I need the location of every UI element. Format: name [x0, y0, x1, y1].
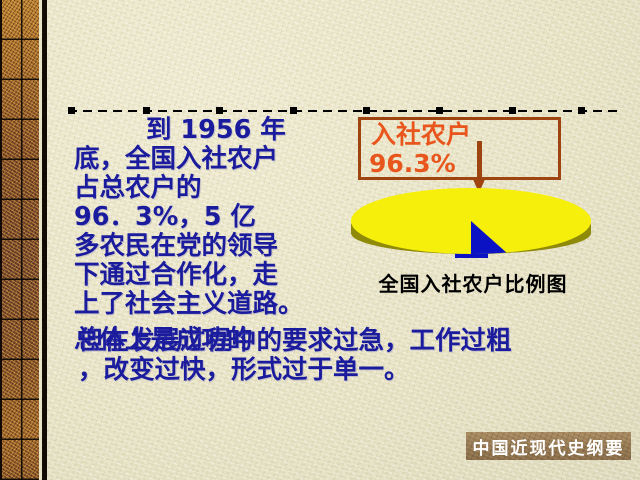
pie-chart[interactable]: [351, 188, 591, 270]
body-text-line-5: 多农民在党的领导: [74, 232, 336, 261]
selection-handle[interactable]: [290, 107, 297, 114]
slide-canvas: 到 1956 年 底，全国入社农户 占总农户的 96．3%，5 亿 多农民在党的…: [0, 0, 640, 480]
callout-title: 入社农户: [371, 120, 471, 150]
body-text-line-1: 到 1956 年: [74, 116, 336, 145]
body-text-line-3: 占总农户的: [74, 174, 336, 203]
selection-handle-left[interactable]: [68, 107, 75, 114]
overlap-text-over[interactable]: 总体上是成功的: [74, 326, 574, 355]
pie-slice-blue: [351, 188, 591, 254]
overlap-under-line-2: ，改变过快，形式过于单一。: [78, 356, 578, 385]
overlap-over-line-1: 总体上是成功的: [74, 326, 574, 355]
selection-handle[interactable]: [143, 107, 150, 114]
selection-handle[interactable]: [509, 107, 516, 114]
selection-handle[interactable]: [216, 107, 223, 114]
chart-caption: 全国入社农户比例图: [368, 268, 578, 297]
course-logo-bar: 中国近现代史纲要: [466, 432, 631, 460]
pie-top-face: [351, 188, 591, 254]
arrow-shaft: [477, 141, 482, 179]
decorative-wood-border: [0, 0, 47, 480]
course-logo-text: 中国近现代史纲要: [473, 434, 625, 459]
selection-handle[interactable]: [363, 107, 370, 114]
body-text-line-2: 底，全国入社农户: [74, 145, 336, 174]
body-text-block[interactable]: 到 1956 年 底，全国入社农户 占总农户的 96．3%，5 亿 多农民在党的…: [74, 116, 336, 319]
down-arrow-icon: [472, 141, 486, 193]
body-text-line-6: 下通过合作化，走: [74, 261, 336, 290]
callout-box[interactable]: 入社农户 96.3%: [358, 117, 561, 180]
selection-handle-right[interactable]: [578, 107, 585, 114]
border-inner-divider: [39, 0, 42, 480]
overlapping-text-group[interactable]: 但在发展过程中的要求过急，工作过粗 ，改变过快，形式过于单一。 总体上是成功的: [74, 326, 574, 400]
callout-value: 96.3%: [369, 149, 456, 179]
selection-handle[interactable]: [436, 107, 443, 114]
body-text-line-7: 上了社会主义道路。: [74, 290, 336, 319]
body-text-line-4: 96．3%，5 亿: [74, 203, 336, 232]
marquee-dashed-line: [68, 110, 620, 112]
